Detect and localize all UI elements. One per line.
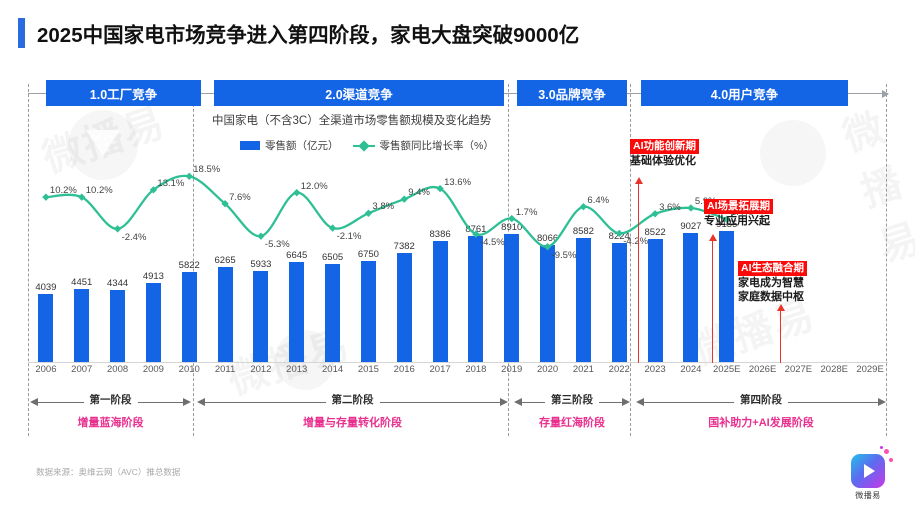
retail-sales-chart: 中国家电（不含3C）全渠道市场零售额规模及变化趋势 零售额（亿元） 零售额同比增… [28, 108, 888, 363]
title-accent-bar [18, 18, 25, 48]
growth-label-2022: -4.2% [623, 236, 648, 247]
growth-label-2007: 10.2% [86, 185, 113, 196]
stage-3: 第三阶段 存量红海阶段 [514, 386, 630, 436]
brand-dot-3 [880, 446, 883, 449]
callout-sub-ai-ecosystem-line1: 家电成为智慧 [738, 277, 807, 290]
source-note: 数据来源：奥维云网（AVC）推总数据 [36, 466, 180, 478]
growth-label-2023: 3.6% [659, 202, 681, 213]
page-title: 2025中国家电市场竞争进入第四阶段，家电大盘突破9000亿 [37, 18, 579, 48]
competition-band-row: 1.0工厂竞争 2.0渠道竞争 3.0品牌竞争 4.0用户竞争 [28, 80, 888, 106]
stage-1-name: 第一阶段 [30, 392, 191, 407]
brand-name: 微播易 [855, 490, 881, 501]
callout-ai-scene: AI场景拓展期 专业应用兴起 [704, 196, 773, 228]
callout-arrow-ai-function [638, 183, 639, 363]
stage-row: 第一阶段 增量蓝海阶段 第二阶段 增量与存量转化阶段 第三阶段 存量红海阶段 第… [28, 386, 888, 436]
stage-2-desc: 增量与存量转化阶段 [197, 414, 508, 430]
stage-1-desc: 增量蓝海阶段 [30, 414, 191, 430]
growth-rate-label-layer: 10.2%10.2%-2.4%13.1%18.5%7.6%-5.3%12.0%-… [28, 108, 888, 363]
band-2-channel[interactable]: 2.0渠道竞争 [214, 80, 504, 106]
callout-ai-function: AI功能创新期 基础体验优化 [630, 136, 699, 168]
growth-label-2011: 7.6% [229, 192, 251, 203]
growth-label-2021: 6.4% [587, 195, 609, 206]
callout-tag-ai-ecosystem: AI生态融合期 [738, 261, 807, 276]
growth-label-2017: 13.6% [444, 177, 471, 188]
band-1-factory[interactable]: 1.0工厂竞争 [46, 80, 201, 106]
stage-1: 第一阶段 增量蓝海阶段 [30, 386, 191, 436]
stage-2-name: 第二阶段 [197, 392, 508, 407]
callout-tag-ai-scene: AI场景拓展期 [704, 199, 773, 214]
growth-label-2006: 10.2% [50, 185, 77, 196]
x-tick-2029E: 2029E [849, 364, 891, 375]
stage-4-name: 第四阶段 [636, 392, 886, 407]
growth-label-2020: -9.5% [552, 250, 577, 261]
callout-tag-ai-function: AI功能创新期 [630, 139, 699, 154]
callout-ai-ecosystem: AI生态融合期 家电成为智慧 家庭数据中枢 [738, 258, 807, 305]
page-header: 2025中国家电市场竞争进入第四阶段，家电大盘突破9000亿 [18, 18, 579, 48]
play-icon [851, 454, 885, 488]
growth-label-2013: 12.0% [301, 181, 328, 192]
brand-logo: 微播易 [837, 439, 899, 501]
band-3-brand[interactable]: 3.0品牌竞争 [517, 80, 627, 106]
callout-arrow-ai-scene [712, 240, 713, 363]
stage-2: 第二阶段 增量与存量转化阶段 [197, 386, 508, 436]
growth-label-2015: 3.8% [372, 201, 394, 212]
growth-label-2019: 1.7% [516, 207, 538, 218]
stage-3-desc: 存量红海阶段 [514, 414, 630, 430]
growth-label-2008: -2.4% [122, 232, 147, 243]
growth-label-2012: -5.3% [265, 239, 290, 250]
x-axis-line [28, 362, 888, 363]
growth-label-2010: 18.5% [193, 164, 220, 175]
callout-sub-ai-scene: 专业应用兴起 [704, 215, 773, 228]
brand-dot-2 [889, 458, 893, 462]
growth-label-2014: -2.1% [337, 231, 362, 242]
brand-dot-1 [884, 449, 889, 454]
x-axis: 2006200720082009201020112012201320142015… [28, 362, 888, 378]
band-4-user[interactable]: 4.0用户竞争 [641, 80, 848, 106]
callout-sub-ai-function: 基础体验优化 [630, 155, 699, 168]
growth-label-2009: 13.1% [157, 178, 184, 189]
stage-4-desc: 国补助力+AI发展阶段 [636, 414, 886, 430]
callout-sub-ai-ecosystem-line2: 家庭数据中枢 [738, 291, 807, 304]
stage-4: 第四阶段 国补助力+AI发展阶段 [636, 386, 886, 436]
stage-3-name: 第三阶段 [514, 392, 630, 407]
growth-label-2018: -4.5% [480, 237, 505, 248]
callout-arrow-ai-ecosystem [780, 310, 781, 363]
growth-label-2016: 9.4% [408, 187, 430, 198]
